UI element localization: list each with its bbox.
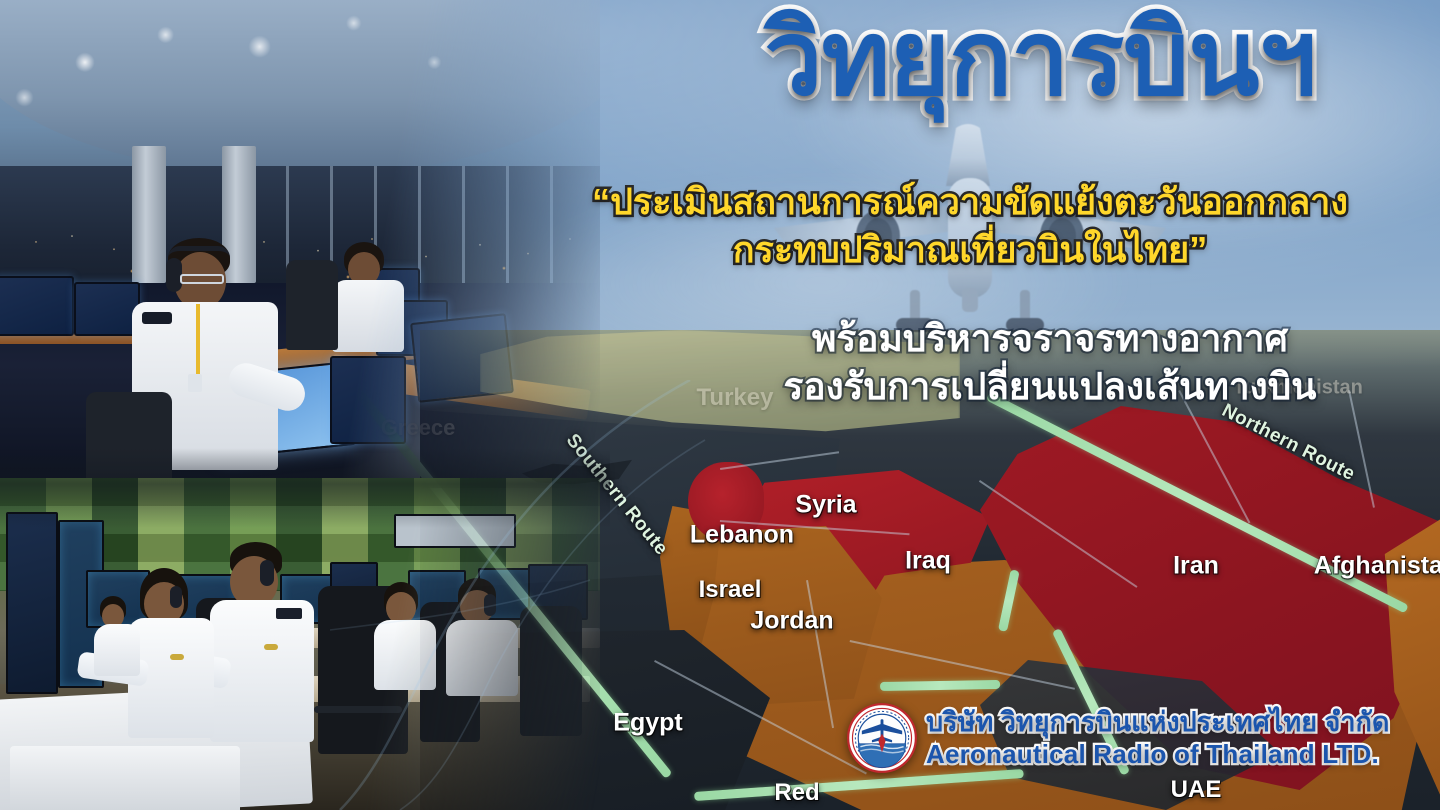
subtitle-statement-line1: พร้อมบริหารจราจรทางอากาศ [660,315,1440,363]
overhead-display [394,514,516,548]
headset-icon [260,560,274,586]
tower-monitor [0,276,74,336]
poster-canvas: Southern Route Northern Route Greece Tur… [0,0,1440,810]
headset-icon [484,594,496,616]
tower-ceiling [0,0,600,176]
controller-distant [450,578,538,696]
aerothai-seal-icon [846,702,918,774]
controller-male-foreground [216,542,346,742]
torso [374,620,436,690]
radar-monitor [6,512,58,694]
brand-name-block: บริษัท วิทยุการบินแห่งประเทศไทย จำกัด Ae… [926,706,1389,770]
headset-band [168,246,230,258]
subtitle-statement: พร้อมบริหารจราจรทางอากาศ รองรับการเปลี่ย… [660,315,1440,411]
controller-background [330,242,416,352]
brand-name-english: Aeronautical Radio of Thailand LTD. [926,739,1389,770]
page-title: วิทยุการบินฯ [640,4,1440,114]
id-badge [188,374,202,392]
lebanon-landmass [688,462,764,542]
office-chair [86,392,172,488]
torso [332,280,404,352]
controller-distant [378,582,452,690]
wing-insignia [264,644,278,650]
torso [446,620,518,696]
torso [94,624,140,676]
workstation-desk-front [10,746,240,810]
wing-insignia [170,654,184,660]
lanyard [196,304,200,378]
area-control-center-photo [0,478,600,810]
subtitle-quote-line2: กระทบปริมาณเที่ยวบินในไทย” [500,226,1440,274]
epaulette [276,608,302,619]
subtitle-quote: “ประเมินสถานการณ์ความขัดแย้งตะวันออกกลาง… [500,178,1440,273]
controller-distant [96,596,152,676]
tower-monitor [330,356,406,444]
epaulette [142,312,172,324]
tower-monitor [410,313,514,403]
office-chair [286,260,338,350]
subtitle-statement-line2: รองรับการเปลี่ยนแปลงเส้นทางบิน [660,363,1440,411]
headset-icon [170,586,182,608]
subtitle-quote-line1: “ประเมินสถานการณ์ความขัดแย้งตะวันออกกลาง [500,178,1440,226]
brand-footer: บริษัท วิทยุการบินแห่งประเทศไทย จำกัด Ae… [846,702,1389,774]
eyeglasses-icon [180,274,224,284]
brand-name-thai: บริษัท วิทยุการบินแห่งประเทศไทย จำกัด [926,706,1389,738]
